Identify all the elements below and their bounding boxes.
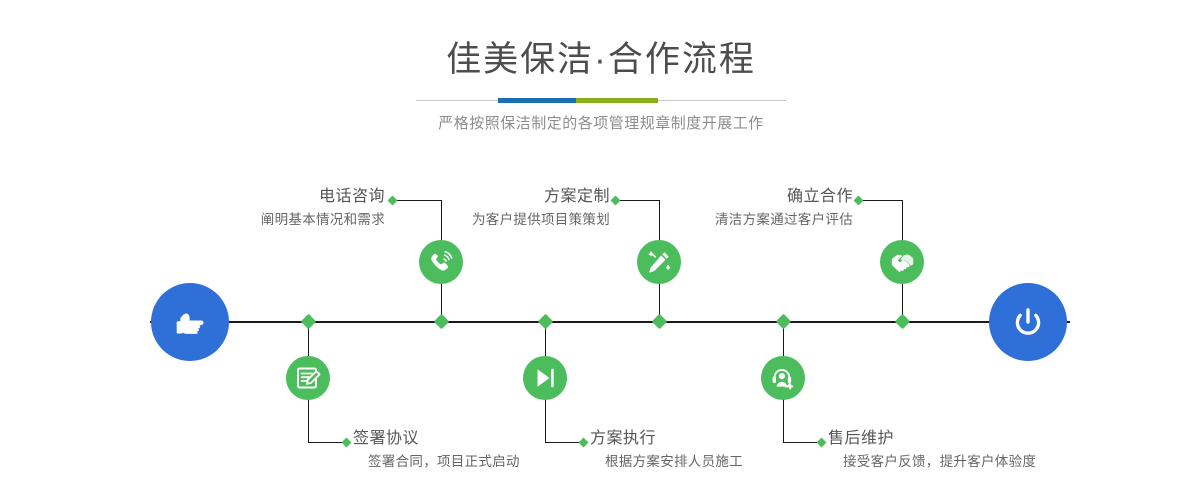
play-execute-icon [531, 364, 559, 392]
connector-dot-step-6 [854, 196, 864, 206]
axis-marker-4 [652, 314, 668, 330]
handshake-icon [888, 248, 916, 276]
step-title-6: 确立合作 [613, 186, 853, 208]
axis-marker-6 [895, 314, 911, 330]
divider-segment-olive [576, 98, 658, 103]
step-label-6: 确立合作 清洁方案通过客户评估 [613, 186, 853, 231]
step-label-5: 售后维护 接受客户反馈，提升客户体验度 [828, 428, 1128, 473]
divider-segment-blue [498, 98, 576, 103]
title-divider [416, 98, 786, 103]
phone-call-icon [427, 248, 455, 276]
customer-service-add-icon [769, 364, 797, 392]
axis-marker-1 [301, 314, 317, 330]
step-title-4: 方案定制 [370, 186, 610, 208]
step-node-2[interactable] [419, 240, 463, 284]
step-label-2: 电话咨询 阐明基本情况和需求 [145, 186, 385, 231]
axis-marker-2 [434, 314, 450, 330]
infographic-canvas: 佳美保洁·合作流程 严格按照保洁制定的各项管理规章制度开展工作 [0, 0, 1202, 502]
pointing-hand-icon [168, 300, 212, 344]
document-pen-icon [294, 364, 322, 392]
connector-dot-step-1 [342, 438, 352, 448]
pencil-design-icon [645, 248, 673, 276]
timeline-end-node[interactable] [989, 283, 1067, 361]
step-label-4: 方案定制 为客户提供项目策策划 [370, 186, 610, 231]
header: 佳美保洁·合作流程 严格按照保洁制定的各项管理规章制度开展工作 [0, 0, 1202, 135]
axis-marker-5 [776, 314, 792, 330]
connector-horizontal-step-6 [858, 200, 902, 201]
page-title: 佳美保洁·合作流程 [0, 0, 1202, 82]
step-title-5: 售后维护 [828, 428, 1128, 450]
step-desc-2: 阐明基本情况和需求 [145, 209, 385, 231]
timeline-start-node[interactable] [151, 283, 229, 361]
timeline-axis [150, 321, 1070, 323]
page-subtitle: 严格按照保洁制定的各项管理规章制度开展工作 [0, 113, 1202, 135]
step-desc-6: 清洁方案通过客户评估 [613, 209, 853, 231]
step-title-2: 电话咨询 [145, 186, 385, 208]
step-node-5[interactable] [761, 356, 805, 400]
step-node-4[interactable] [637, 240, 681, 284]
step-node-3[interactable] [523, 356, 567, 400]
step-desc-4: 为客户提供项目策策划 [370, 209, 610, 231]
step-node-6[interactable] [880, 240, 924, 284]
axis-marker-3 [538, 314, 554, 330]
power-icon [1006, 300, 1050, 344]
step-node-1[interactable] [286, 356, 330, 400]
step-desc-5: 接受客户反馈，提升客户体验度 [828, 451, 1128, 473]
